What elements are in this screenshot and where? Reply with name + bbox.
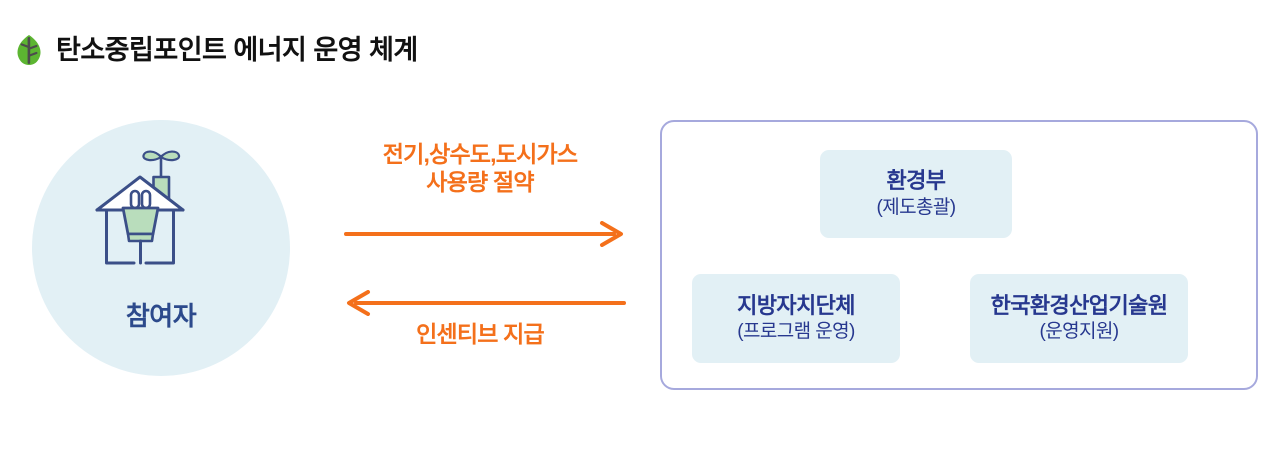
org-card-local-government-name: 지방자치단체: [737, 293, 855, 318]
org-card-local-government: 지방자치단체 (프로그램 운영): [692, 274, 900, 363]
flow-outbound-label: 전기,상수도,도시가스 사용량 절약: [330, 140, 630, 196]
org-card-ministry: 환경부 (제도총괄): [820, 150, 1012, 238]
flow-area: 전기,상수도,도시가스 사용량 절약 인센티브 지급: [330, 140, 640, 370]
organization-panel: 환경부 (제도총괄) 지방자치단체 (프로그램 운영) 한국환경산업기술원 (운…: [660, 120, 1258, 390]
org-card-keiti-role: (운영지원): [1040, 321, 1119, 344]
arrow-left-icon: [340, 290, 630, 316]
arrow-right-icon: [340, 221, 630, 247]
flow-outbound-label-line2: 사용량 절약: [330, 168, 630, 196]
leaf-icon: [14, 34, 44, 66]
house-with-plug-icon: [92, 148, 230, 290]
page-header: 탄소중립포인트 에너지 운영 체계: [14, 34, 418, 66]
flow-inbound-label: 인센티브 지급: [330, 320, 630, 348]
participant-circle: 참여자: [32, 120, 290, 376]
participant-label: 참여자: [32, 296, 290, 333]
org-card-keiti-name: 한국환경산업기술원: [991, 293, 1168, 318]
org-card-keiti: 한국환경산업기술원 (운영지원): [970, 274, 1188, 363]
org-card-local-government-role: (프로그램 운영): [737, 321, 854, 344]
page-title: 탄소중립포인트 에너지 운영 체계: [56, 37, 418, 64]
org-card-ministry-name: 환경부: [887, 168, 946, 193]
org-card-ministry-role: (제도총괄): [877, 197, 956, 220]
flow-outbound-label-line1: 전기,상수도,도시가스: [330, 140, 630, 168]
